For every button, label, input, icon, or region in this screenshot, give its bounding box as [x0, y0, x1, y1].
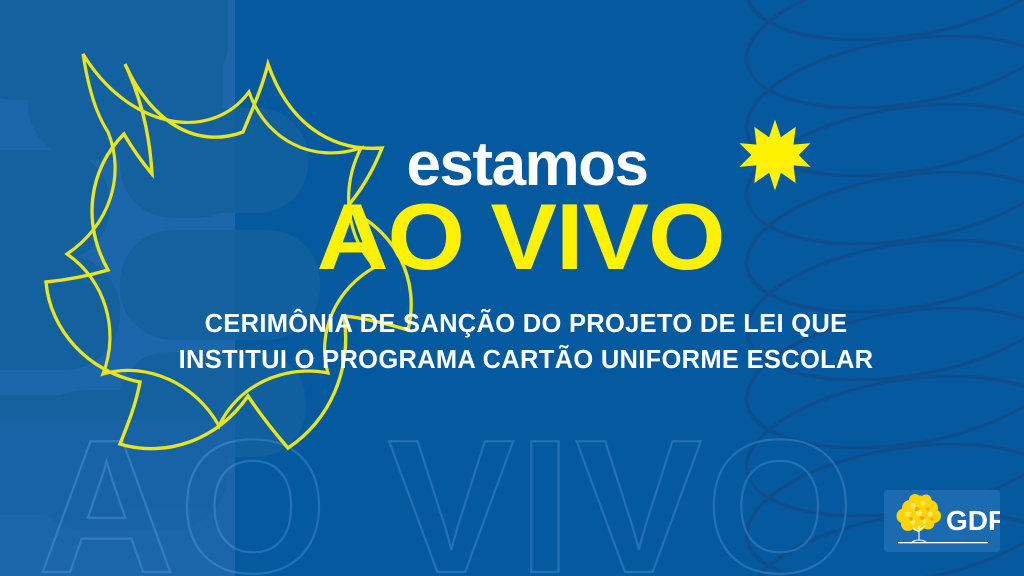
live-broadcast-slide: AO VIVO AO VIVO estamos AO VIVO CERIMÔNI… [0, 0, 1024, 576]
burst-outline-layer [0, 0, 1024, 576]
logo-wordmark: GDF [946, 505, 1000, 536]
logo-underline [898, 542, 988, 543]
scalloped-burst-outline-main [46, 64, 411, 449]
gdf-logo: GDF [884, 490, 1000, 552]
